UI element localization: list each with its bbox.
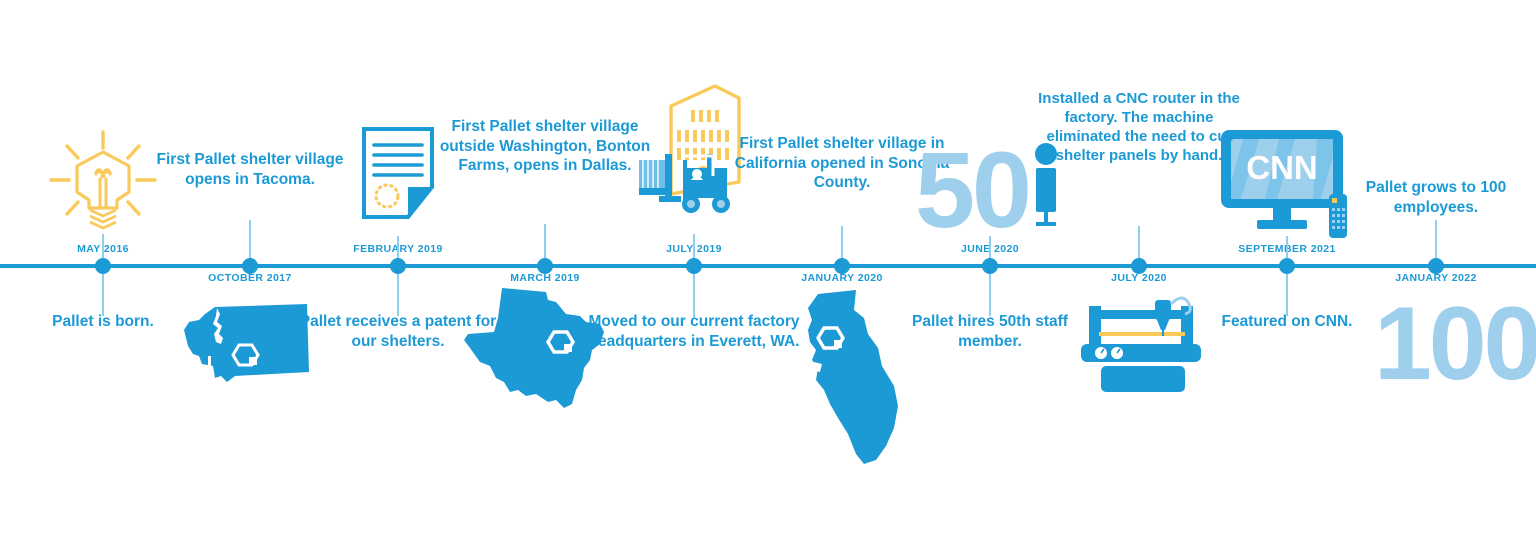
patent-document-icon — [358, 125, 438, 230]
milestone-caption: First Pallet shelter village opens in Ta… — [140, 150, 360, 189]
milestone-dot[interactable] — [537, 258, 553, 274]
milestone-dot[interactable] — [390, 258, 406, 274]
milestone-date: MAY 2016 — [0, 243, 213, 255]
milestone-date: JANUARY 2022 — [1326, 272, 1536, 284]
connector-stem — [989, 236, 991, 260]
stat-100-person-icon: 100 — [1374, 296, 1536, 387]
timeline-axis — [0, 264, 1536, 268]
connector-stem — [397, 274, 399, 316]
connector-stem — [989, 274, 991, 316]
milestone-dot[interactable] — [982, 258, 998, 274]
milestone-dot[interactable] — [1428, 258, 1444, 274]
connector-stem — [544, 224, 546, 260]
milestone-caption: Pallet hires 50th staff member. — [880, 312, 1100, 351]
milestone-dot[interactable] — [834, 258, 850, 274]
stat-number: 100 — [1374, 302, 1536, 387]
milestone-dot[interactable] — [242, 258, 258, 274]
milestone-caption: Installed a CNC router in the factory. T… — [1029, 89, 1249, 165]
milestone-dot[interactable] — [95, 258, 111, 274]
tv-channel-label: CNN — [1246, 149, 1318, 186]
cnc-router-icon — [1081, 288, 1203, 397]
timeline-infographic: MAY 2016 Pallet is born. First Pallet sh… — [0, 0, 1536, 538]
stat-number: 50 — [915, 146, 1029, 235]
milestone-dot[interactable] — [1279, 258, 1295, 274]
connector-stem — [1286, 236, 1288, 260]
connector-stem — [102, 234, 104, 260]
connector-stem — [841, 226, 843, 260]
connector-stem — [693, 234, 695, 260]
connector-stem — [397, 236, 399, 260]
connector-stem — [249, 220, 251, 260]
milestone-caption: Pallet grows to 100 employees. — [1326, 178, 1536, 217]
milestone-caption: First Pallet shelter village outside Was… — [435, 117, 655, 176]
connector-stem — [1435, 220, 1437, 260]
connector-stem — [1138, 226, 1140, 260]
milestone-dot[interactable] — [686, 258, 702, 274]
connector-stem — [102, 274, 104, 316]
connector-stem — [693, 274, 695, 318]
milestone-dot[interactable] — [1131, 258, 1147, 274]
connector-stem — [1286, 274, 1288, 316]
